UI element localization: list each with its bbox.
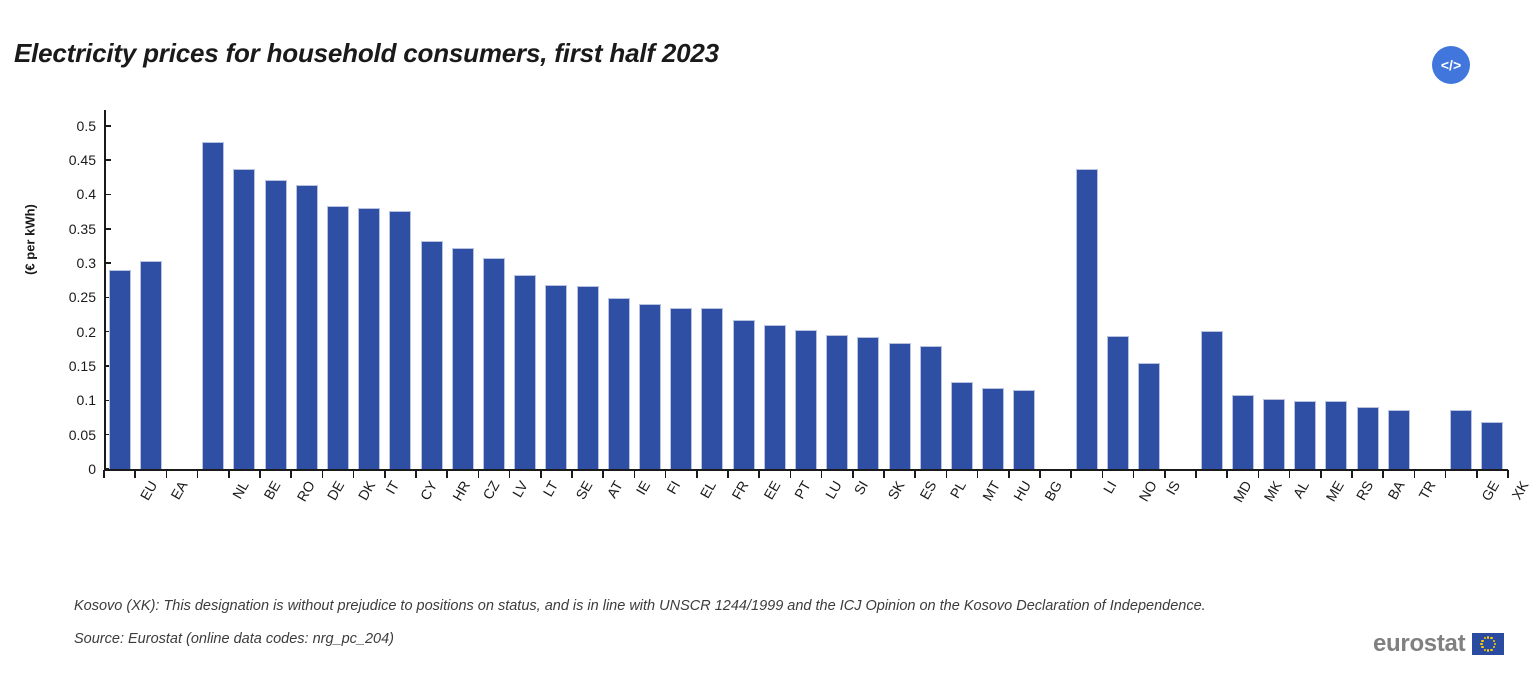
x-axis-tick-label: PT [791,478,814,501]
y-axis-tick-label: 0.15 [42,358,96,374]
x-axis-tick-label: LT [540,478,562,499]
x-axis-tick-label: SK [885,478,908,502]
bar[interactable] [1013,390,1035,469]
x-axis-tick-mark [727,470,729,478]
x-axis-tick-mark [1258,470,1260,478]
x-axis-tick-mark [1476,470,1478,478]
bar[interactable] [1263,399,1285,469]
x-axis-tick-mark [946,470,948,478]
y-axis-line [104,110,106,469]
x-axis-tick-label: TR [1415,478,1438,502]
x-axis-tick-mark [1289,470,1291,478]
y-axis-tick-label: 0.35 [42,221,96,237]
x-axis-tick-mark [1351,470,1353,478]
x-axis-tick-label: LU [822,478,845,502]
bar[interactable] [889,343,911,469]
x-axis-tick-label: IE [632,478,652,497]
x-axis-tick-mark [166,470,168,478]
x-axis-tick-mark [1070,470,1072,478]
chart-page: Electricity prices for household consume… [0,0,1536,682]
bar[interactable] [1138,363,1160,469]
x-axis-tick-mark [228,470,230,478]
bar[interactable] [1201,331,1223,469]
bar[interactable] [296,185,318,469]
x-axis-tick-mark [384,470,386,478]
x-axis-tick-mark [602,470,604,478]
x-axis-tick-label: ES [916,478,939,502]
x-axis-tick-label: DK [355,478,379,503]
bar[interactable] [1481,422,1503,469]
x-axis-tick-mark [1382,470,1384,478]
y-axis-label: (€ per kWh) [23,180,38,300]
bar[interactable] [109,270,131,469]
x-axis-line [104,469,1508,471]
x-axis-tick-mark [571,470,573,478]
y-axis-tick-label: 0.45 [42,152,96,168]
eu-flag-star [1480,643,1482,645]
x-axis-tick-label: MK [1260,478,1284,504]
x-axis-tick-mark [1507,470,1509,478]
x-axis-tick-label: MT [979,478,1003,504]
x-axis-tick-mark [103,470,105,478]
x-axis-tick-mark [540,470,542,478]
bar[interactable] [265,180,287,469]
eu-flag-star [1487,636,1489,638]
x-axis-tick-mark [790,470,792,478]
x-axis-tick-label: IT [382,478,402,497]
y-axis-tick-label: 0 [42,461,96,477]
y-axis-tick-label: 0.4 [42,186,96,202]
x-axis-tick-mark [1164,470,1166,478]
bar[interactable] [483,258,505,469]
x-axis-tick-mark [197,470,199,478]
x-axis-tick-mark [415,470,417,478]
x-axis-tick-label: EE [760,478,783,502]
y-axis-tick-label: 0.05 [42,427,96,443]
bar[interactable] [421,241,443,469]
x-axis-tick-mark [322,470,324,478]
x-axis-tick-mark [1102,470,1104,478]
x-axis-tick-mark [478,470,480,478]
bar[interactable] [233,169,255,469]
bar[interactable] [545,285,567,469]
bar[interactable] [1294,401,1316,469]
x-axis-tick-mark [758,470,760,478]
x-axis-tick-label: XK [1509,478,1532,502]
bar[interactable] [795,330,817,469]
x-axis-tick-label: MD [1229,478,1254,505]
x-axis-tick-mark [1320,470,1322,478]
eu-flag-star [1481,646,1483,648]
bar[interactable] [982,388,1004,469]
chart-plot-area: (€ per kWh) 00.050.10.150.20.250.30.350.… [0,0,1536,540]
bar[interactable] [1357,407,1379,469]
bar[interactable] [764,325,786,469]
eu-flag-star [1493,646,1495,648]
bar[interactable] [701,308,723,469]
x-axis-tick-mark [1445,470,1447,478]
x-axis-tick-label: LV [509,478,531,500]
bar[interactable] [1232,395,1254,469]
x-axis-tick-label: BG [1042,478,1066,504]
x-axis-tick-label: BA [1384,478,1407,502]
x-axis-tick-mark [1226,470,1228,478]
x-axis-tick-mark [353,470,355,478]
x-axis-tick-label: PL [946,478,968,501]
x-axis-tick-label: IS [1163,478,1183,497]
bar[interactable] [452,248,474,469]
x-axis-tick-mark [914,470,916,478]
bar[interactable] [327,206,349,469]
x-axis-tick-label: SI [851,478,871,497]
y-axis-tick-label: 0.2 [42,324,96,340]
x-axis-tick-mark [1008,470,1010,478]
x-axis-tick-label: HU [1010,478,1034,504]
x-axis-tick-label: GE [1478,478,1502,504]
eu-flag-star [1490,649,1492,651]
bar[interactable] [951,382,973,469]
x-axis-tick-mark [634,470,636,478]
x-axis-tick-mark [883,470,885,478]
x-axis-tick-mark [1414,470,1416,478]
bar[interactable] [389,211,411,469]
bar[interactable] [1450,410,1472,469]
x-axis-tick-label: EL [697,478,719,501]
x-axis-tick-mark [977,470,979,478]
bar[interactable] [1388,410,1410,469]
x-axis-tick-mark [696,470,698,478]
x-axis-tick-label: NL [229,478,252,502]
bar[interactable] [826,335,848,469]
x-axis-tick-mark [446,470,448,478]
eu-flag-star [1484,637,1486,639]
eu-flag-icon [1472,633,1504,655]
x-axis-tick-label: LI [1100,478,1120,496]
bar[interactable] [670,308,692,469]
x-axis-tick-label: RS [1353,478,1377,503]
x-axis-tick-mark [821,470,823,478]
x-axis-tick-label: CY [417,478,441,503]
bar[interactable] [577,286,599,469]
bar[interactable] [733,320,755,469]
x-axis-tick-label: FI [663,478,683,497]
x-axis-tick-label: EU [136,478,160,503]
x-axis-tick-label: NO [1136,478,1160,504]
bar[interactable] [358,208,380,469]
eu-flag-star [1481,640,1483,642]
x-axis-tick-mark [1039,470,1041,478]
y-axis-tick-label: 0.5 [42,118,96,134]
eu-flag-star [1484,649,1486,651]
eurostat-wordmark: eurostat [1373,632,1465,656]
y-axis-tick-labels: 00.050.10.150.20.250.30.350.40.450.5 [42,0,96,540]
eu-flag-star [1494,643,1496,645]
x-axis-tick-label: RO [293,478,317,504]
bar[interactable] [639,304,661,469]
y-axis-tick-label: 0.25 [42,289,96,305]
x-axis-tick-mark [509,470,511,478]
bar[interactable] [920,346,942,469]
x-axis-tick-mark [259,470,261,478]
bar[interactable] [1076,169,1098,469]
x-axis-tick-label: AT [603,478,625,501]
bar[interactable] [140,261,162,469]
source-text: Source: Eurostat (online data codes: nrg… [74,631,394,647]
bar[interactable] [514,275,536,469]
bar[interactable] [1325,401,1347,469]
footnote-text: Kosovo (XK): This designation is without… [74,598,1206,614]
bar[interactable] [608,298,630,469]
bar[interactable] [202,142,224,469]
x-axis-tick-label: FR [729,478,752,502]
y-axis-tick-label: 0.1 [42,392,96,408]
y-axis-tick-label: 0.3 [42,255,96,271]
eu-flag-star [1487,649,1489,651]
x-axis-tick-label: BE [261,478,284,502]
x-axis-tick-mark [852,470,854,478]
x-axis-tick-mark [134,470,136,478]
x-axis-tick-label: HR [449,478,473,504]
x-axis-tick-label: ME [1323,478,1347,504]
x-axis-tick-mark [1133,470,1135,478]
x-axis-tick-label: AL [1290,478,1312,501]
x-axis-tick-label: SE [573,478,596,502]
eu-flag-star [1490,637,1492,639]
x-axis-tick-label: DE [324,478,348,503]
x-axis-tick-mark [290,470,292,478]
x-axis-tick-label: EA [167,478,190,502]
x-axis-tick-label: CZ [479,478,502,502]
bar[interactable] [1107,336,1129,469]
eu-flag-star [1493,640,1495,642]
x-axis-tick-mark [665,470,667,478]
x-axis-tick-mark [1195,470,1197,478]
bar[interactable] [857,337,879,469]
eurostat-logo: eurostat [1373,632,1504,656]
